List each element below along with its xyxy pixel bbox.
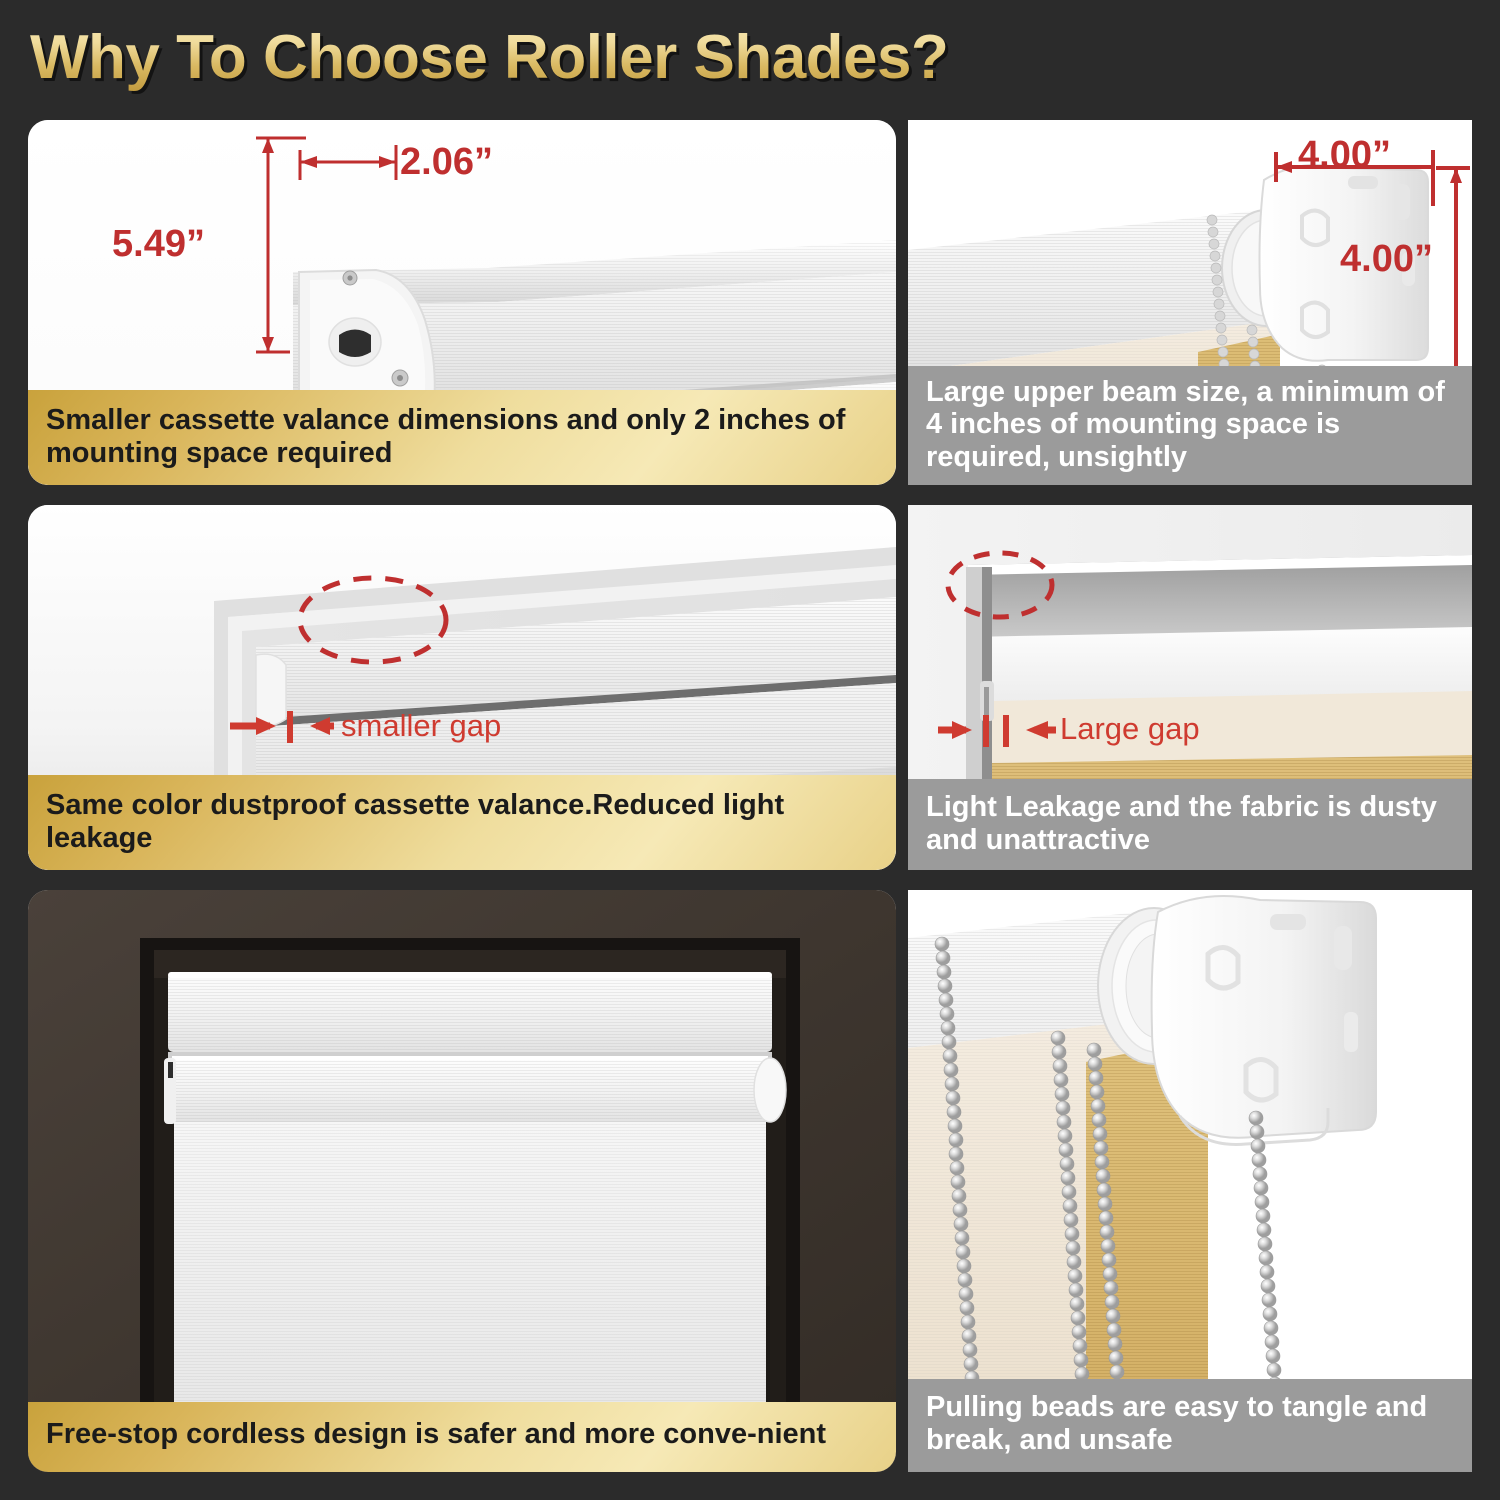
panel-5-caption: Free-stop cordless design is safer and m… [28, 1402, 896, 1472]
panel-1-caption: Smaller cassette valance dimensions and … [28, 390, 896, 485]
panel-3-caption: Same color dustproof cassette valance.Re… [28, 775, 896, 870]
panel-large-upper-beam: 4.00” 4.00” Large upper beam size, a min… [908, 120, 1472, 485]
panel-light-leakage: Large gap Light Leakage and the fabric i… [908, 505, 1472, 870]
panel-4-caption: Light Leakage and the fabric is dusty an… [908, 779, 1472, 870]
width-dimension-label: 2.06” [400, 141, 493, 184]
panel-2-caption: Large upper beam size, a minimum of 4 in… [908, 366, 1472, 485]
panel-pulling-beads: Pulling beads are easy to tangle and bre… [908, 890, 1472, 1472]
page-title: Why To Choose Roller Shades? [30, 22, 948, 93]
panel-cordless-design: Free-stop cordless design is safer and m… [28, 890, 896, 1472]
panel-dustproof-cassette: smaller gap Same color dustproof cassett… [28, 505, 896, 870]
panel-smaller-cassette: 2.06” 5.49” Smaller cassette valance dim… [28, 120, 896, 485]
smaller-gap-label: smaller gap [341, 708, 501, 744]
height-dimension-label: 5.49” [112, 223, 205, 266]
panel-6-caption: Pulling beads are easy to tangle and bre… [908, 1379, 1472, 1472]
beam-height-dimension-label: 4.00” [1340, 238, 1433, 281]
beam-width-dimension-label: 4.00” [1298, 134, 1391, 177]
large-gap-label: Large gap [1060, 711, 1200, 747]
panel-5-photo [28, 890, 896, 1472]
